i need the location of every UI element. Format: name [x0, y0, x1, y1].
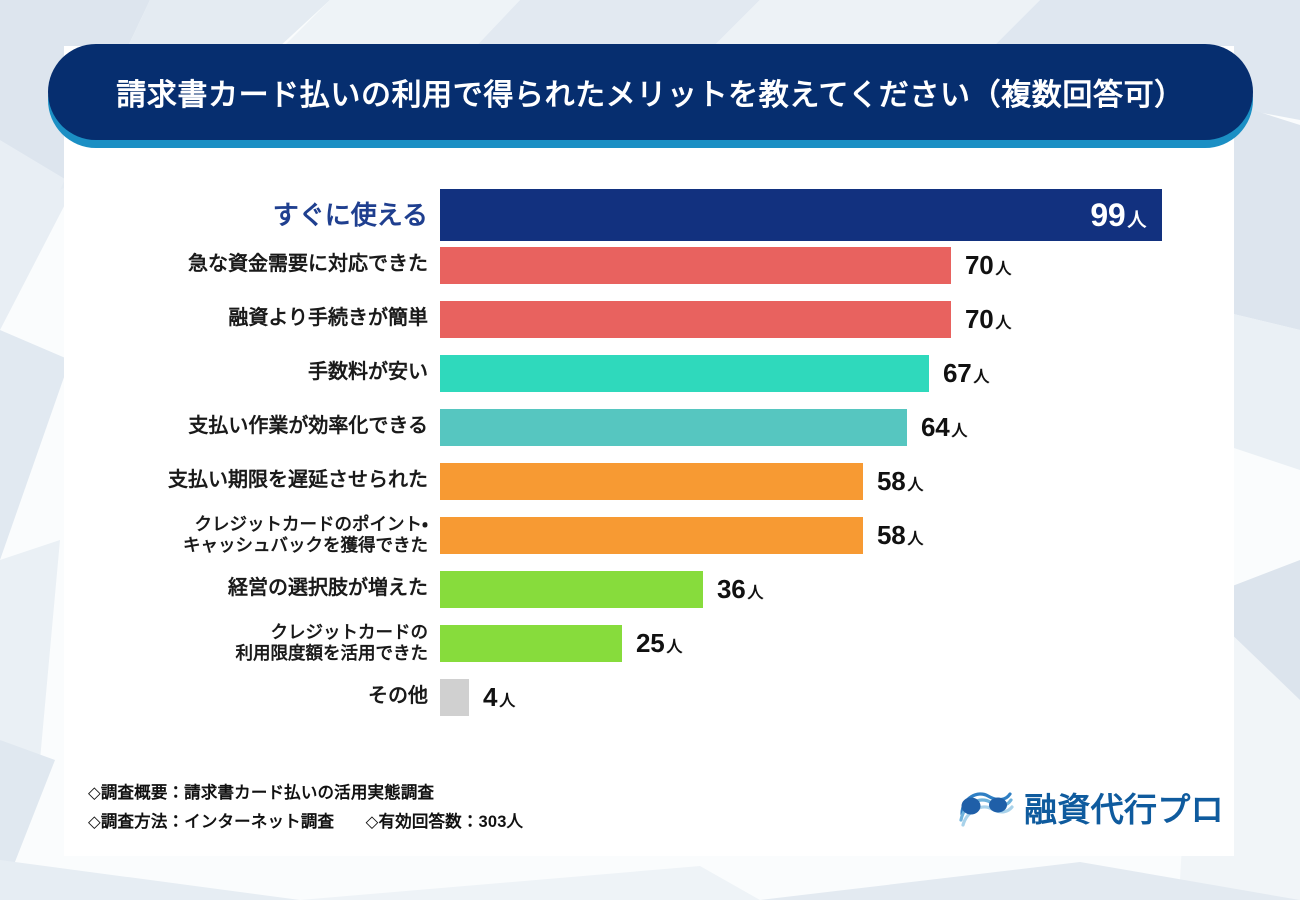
survey-method-line: ◇調査方法：インターネット調査 ◇有効回答数：303人	[88, 808, 523, 837]
bar-value: 99人	[1090, 197, 1162, 234]
bar-value-unit: 人	[995, 315, 1011, 332]
bar	[440, 409, 907, 446]
bar-value-number: 67	[943, 358, 971, 388]
bar	[440, 571, 703, 608]
bar	[440, 679, 469, 716]
bar-value: 36人	[717, 574, 763, 605]
bar-row: 融資より手続きが簡単70人	[64, 295, 1234, 343]
bar-track: 99人	[440, 187, 1234, 243]
bar-row: クレジットカードの 利用限度額を活用できた25人	[64, 619, 1234, 667]
bar-row: すぐに使える99人	[64, 187, 1234, 243]
bar	[440, 517, 863, 554]
bar-value-unit: 人	[951, 423, 967, 440]
bar-value-unit: 人	[666, 639, 682, 656]
bar-row: 支払い作業が効率化できる64人	[64, 403, 1234, 451]
bar-track: 58人	[440, 457, 1234, 505]
bar-chart: すぐに使える99人急な資金需要に対応できた70人融資より手続きが簡単70人手数料…	[64, 186, 1234, 756]
bar-label: 支払い期限を遅延させられた	[64, 469, 440, 493]
bar-label: クレジットカードのポイント・ キャッシュバックを獲得できた	[64, 514, 440, 555]
valid-responses: ◇有効回答数：303人	[366, 813, 524, 831]
bar-value-unit: 人	[499, 693, 515, 710]
wave-icon	[958, 784, 1014, 830]
banner-body: 請求書カード払いの利用で得られたメリットを教えてください（複数回答可）	[48, 44, 1253, 140]
bar-value-number: 25	[636, 628, 664, 658]
bar-value-unit: 人	[973, 369, 989, 386]
bar-value: 70人	[965, 304, 1011, 335]
bar-track: 67人	[440, 349, 1234, 397]
bar-track: 58人	[440, 511, 1234, 559]
bar-label: すぐに使える	[64, 200, 440, 231]
bar-row: 急な資金需要に対応できた70人	[64, 241, 1234, 289]
bar	[440, 301, 951, 338]
bar-track: 36人	[440, 565, 1234, 613]
bar-value-unit: 人	[995, 261, 1011, 278]
bar-value-unit: 人	[907, 531, 923, 548]
bar-value-unit: 人	[907, 477, 923, 494]
bar-label: 手数料が安い	[64, 361, 440, 385]
bar-label: クレジットカードの 利用限度額を活用できた	[64, 622, 440, 663]
bar-label: 急な資金需要に対応できた	[64, 253, 440, 277]
bar-row: その他4人	[64, 673, 1234, 721]
bar-value-unit: 人	[1127, 210, 1146, 231]
bar-label: その他	[64, 685, 440, 709]
survey-method: ◇調査方法：インターネット調査	[88, 813, 334, 831]
bar-row: クレジットカードのポイント・ キャッシュバックを獲得できた58人	[64, 511, 1234, 559]
bar-label: 融資より手続きが簡単	[64, 307, 440, 331]
bar-value: 25人	[636, 628, 682, 659]
brand-logo: 融資代行プロ	[958, 783, 1224, 831]
bar-track: 25人	[440, 619, 1234, 667]
bar-row: 経営の選択肢が増えた36人	[64, 565, 1234, 613]
bar-row: 支払い期限を遅延させられた58人	[64, 457, 1234, 505]
bar: 99人	[440, 189, 1162, 241]
bar	[440, 355, 929, 392]
bar-value-number: 36	[717, 574, 745, 604]
bar-value-number: 58	[877, 466, 905, 496]
bar-track: 4人	[440, 673, 1234, 721]
page-title: 請求書カード払いの利用で得られたメリットを教えてください（複数回答可）	[116, 70, 1185, 114]
bar-label: 支払い作業が効率化できる	[64, 415, 440, 439]
bar-track: 70人	[440, 295, 1234, 343]
bar-value: 67人	[943, 358, 989, 389]
bar	[440, 625, 622, 662]
bar-value: 70人	[965, 250, 1011, 281]
bar-value-number: 70	[965, 304, 993, 334]
bar-value-unit: 人	[747, 585, 763, 602]
bar-value-number: 99	[1090, 197, 1125, 233]
bar	[440, 463, 863, 500]
bar-row: 手数料が安い67人	[64, 349, 1234, 397]
survey-overview: ◇調査概要：請求書カード払いの活用実態調査	[88, 779, 523, 808]
bar-value: 64人	[921, 412, 967, 443]
logo-text: 融資代行プロ	[1024, 783, 1224, 831]
title-banner: 請求書カード払いの利用で得られたメリットを教えてください（複数回答可）	[48, 44, 1253, 148]
bar-value-number: 4	[483, 682, 497, 712]
bar-value: 58人	[877, 466, 923, 497]
bar-value: 4人	[483, 682, 515, 713]
bar	[440, 247, 951, 284]
bar-value: 58人	[877, 520, 923, 551]
bar-label: 経営の選択肢が増えた	[64, 577, 440, 601]
bar-value-number: 58	[877, 520, 905, 550]
bar-value-number: 64	[921, 412, 949, 442]
bar-track: 70人	[440, 241, 1234, 289]
bar-value-number: 70	[965, 250, 993, 280]
bar-track: 64人	[440, 403, 1234, 451]
survey-meta: ◇調査概要：請求書カード払いの活用実態調査 ◇調査方法：インターネット調査 ◇有…	[88, 779, 523, 837]
